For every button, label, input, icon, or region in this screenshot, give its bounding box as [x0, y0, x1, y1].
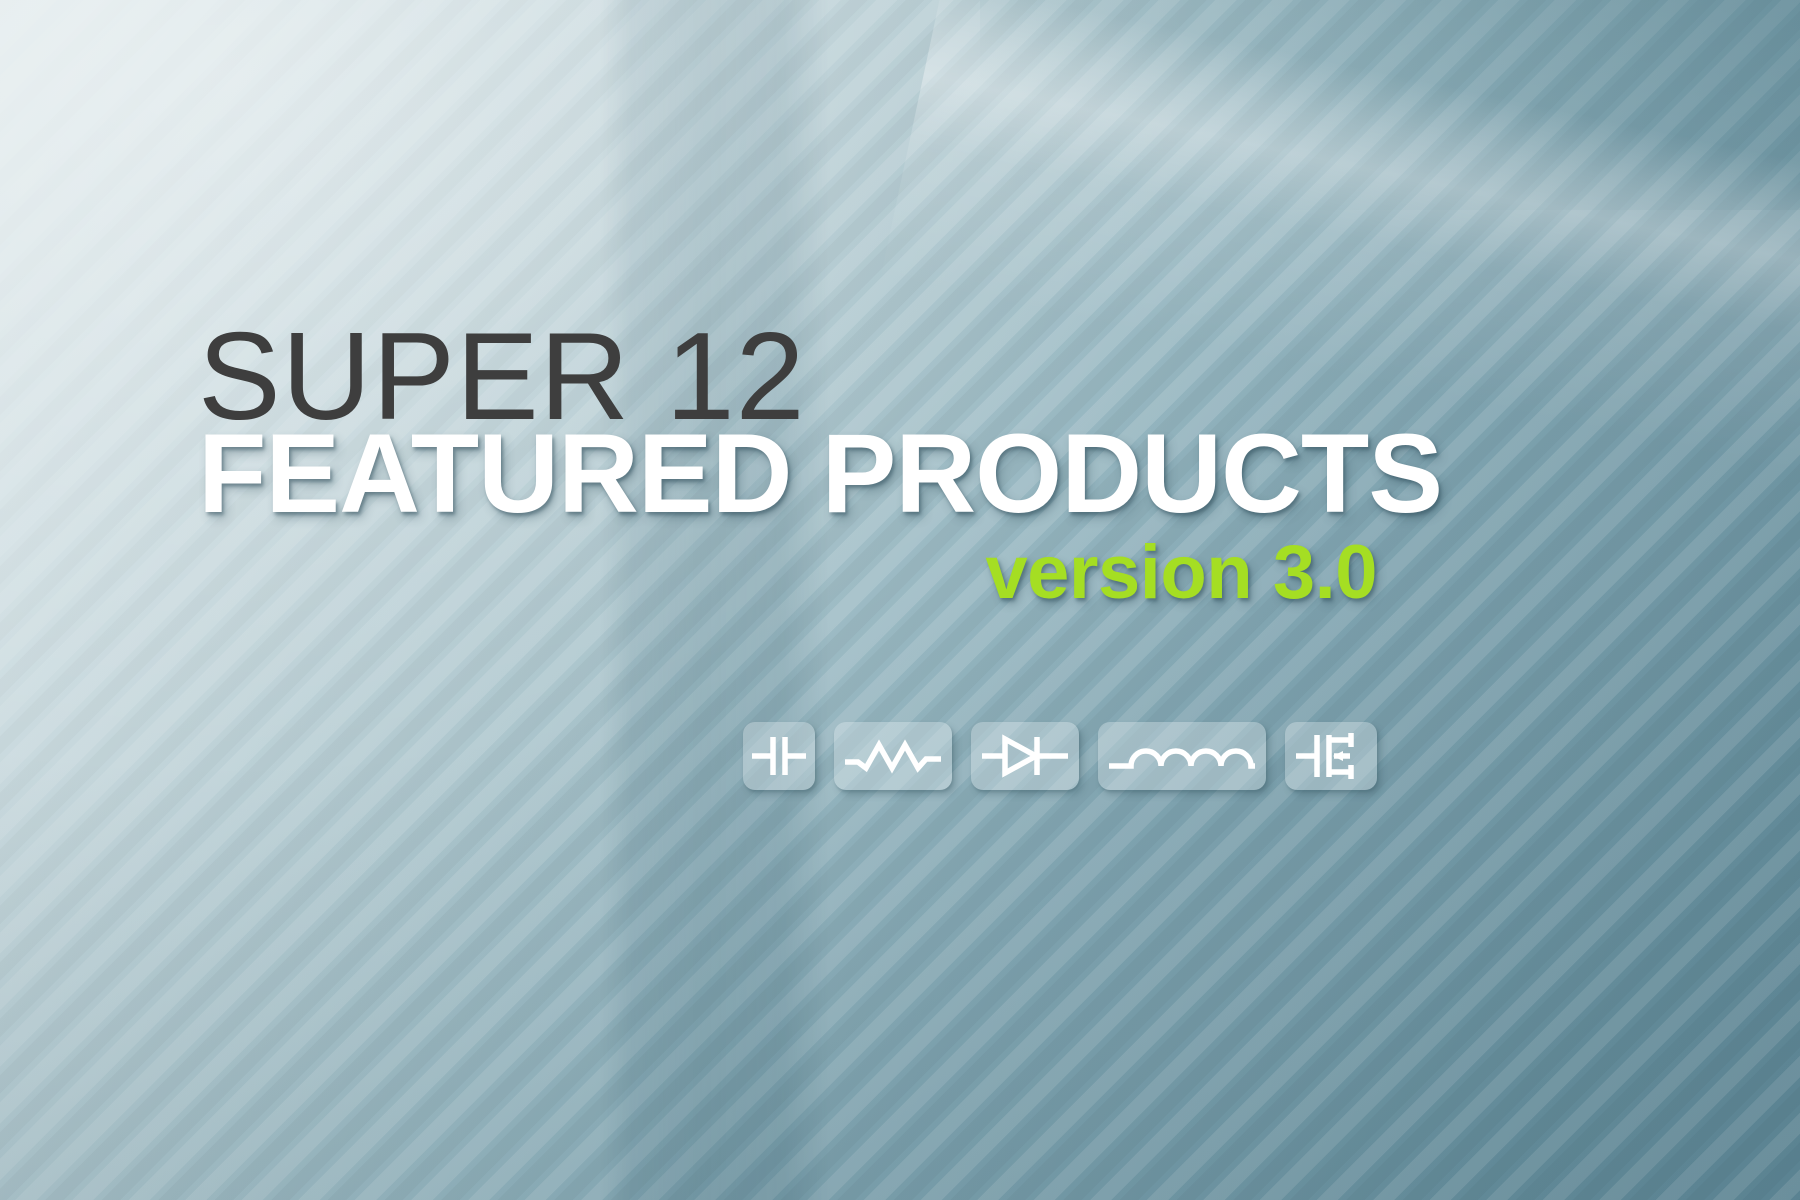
title-line-featured-products: FEATURED PRODUCTS	[198, 418, 1442, 530]
slide-content: SUPER 12 FEATURED PRODUCTS version 3.0	[0, 0, 1800, 1200]
inductor-icon[interactable]	[1098, 722, 1266, 790]
diode-icon[interactable]	[971, 722, 1079, 790]
version-label: version 3.0	[0, 535, 1377, 611]
slide-canvas: SUPER 12 FEATURED PRODUCTS version 3.0	[0, 0, 1800, 1200]
resistor-icon[interactable]	[834, 722, 952, 790]
transistor-icon[interactable]	[1285, 722, 1377, 790]
capacitor-icon[interactable]	[743, 722, 815, 790]
component-icon-strip	[0, 722, 1377, 790]
